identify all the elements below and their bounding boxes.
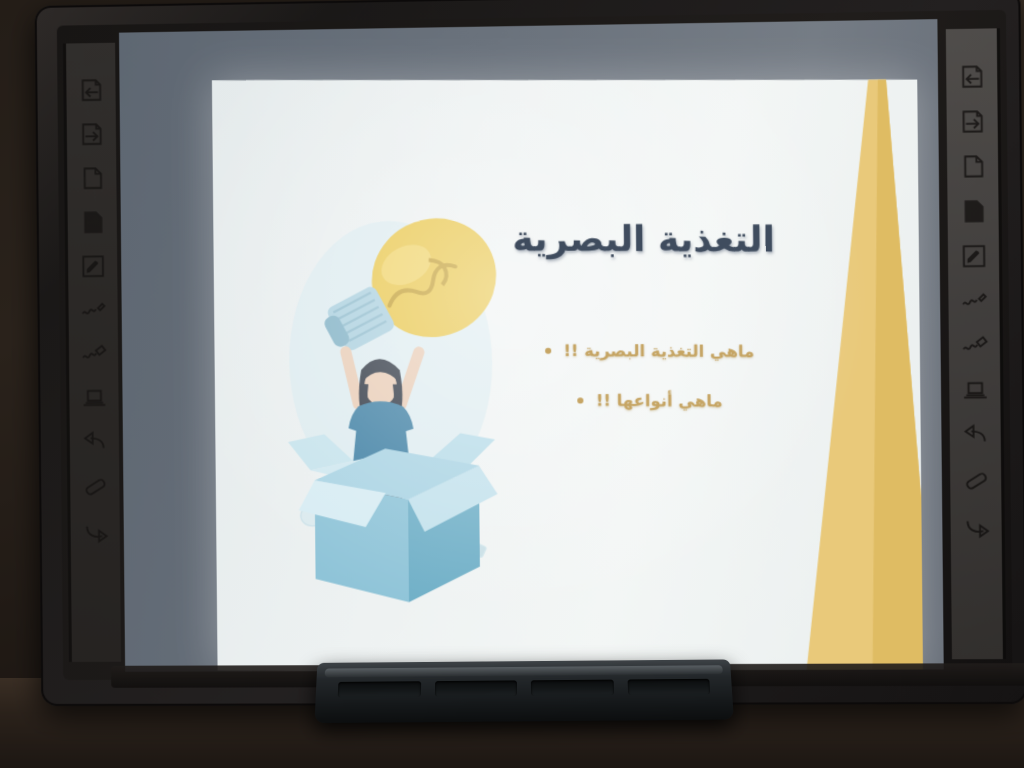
bullet-dot-icon — [545, 347, 551, 353]
pen-tray[interactable] — [314, 659, 733, 723]
pen-in-box-icon[interactable] — [73, 245, 111, 286]
laptop-icon[interactable] — [955, 369, 995, 411]
page-back-arrow-icon[interactable] — [72, 69, 110, 111]
redo-arrow-icon[interactable] — [956, 504, 996, 546]
left-tool-strip[interactable] — [63, 43, 121, 662]
list-item: ماهي أنواعها !! — [435, 390, 866, 412]
squiggle-highlighter-icon[interactable] — [954, 324, 994, 366]
bullet-text: ماهي التغذية البصرية !! — [563, 341, 754, 361]
squiggle-pen-icon[interactable] — [74, 289, 112, 330]
pen-tray-lip — [325, 665, 723, 677]
bullet-dot-icon — [578, 397, 584, 403]
pen-slot[interactable] — [434, 680, 517, 696]
bullet-text: ماهي أنواعها !! — [596, 391, 723, 411]
pen-tray-slots — [338, 679, 710, 698]
undo-arrow-icon[interactable] — [955, 414, 995, 456]
squiggle-highlighter-icon[interactable] — [74, 333, 112, 374]
board-writing-surface[interactable]: التغذية البصرية ماهي التغذية البصرية !! … — [119, 19, 944, 672]
interactive-whiteboard[interactable]: التغذية البصرية ماهي التغذية البصرية !! … — [35, 0, 1024, 706]
pen-slot[interactable] — [627, 679, 710, 695]
projected-slide: التغذية البصرية ماهي التغذية البصرية !! … — [212, 80, 923, 672]
pen-slot[interactable] — [338, 681, 421, 697]
pen-slot[interactable] — [531, 680, 614, 696]
page-forward-arrow-icon[interactable] — [952, 100, 992, 142]
laptop-icon[interactable] — [75, 377, 113, 418]
undo-arrow-icon[interactable] — [75, 421, 113, 462]
list-item: ماهي التغذية البصرية !! — [435, 340, 866, 361]
page-back-arrow-icon[interactable] — [952, 55, 992, 97]
filled-page-icon[interactable] — [953, 190, 993, 232]
slide-title: التغذية البصرية — [424, 219, 865, 261]
slide-bullet-list: ماهي التغذية البصرية !! ماهي أنواعها !! — [435, 340, 867, 442]
eraser-icon[interactable] — [956, 459, 996, 501]
filled-page-icon[interactable] — [73, 201, 111, 243]
eraser-icon[interactable] — [76, 465, 114, 506]
redo-arrow-icon[interactable] — [76, 510, 114, 551]
pen-in-box-icon[interactable] — [954, 235, 994, 277]
page-forward-arrow-icon[interactable] — [72, 113, 110, 155]
squiggle-pen-icon[interactable] — [954, 279, 994, 321]
blank-page-icon[interactable] — [73, 157, 111, 199]
right-tool-strip[interactable] — [946, 28, 1006, 659]
classroom-scene: التغذية البصرية ماهي التغذية البصرية !! … — [0, 0, 1024, 768]
blank-page-icon[interactable] — [953, 145, 993, 187]
